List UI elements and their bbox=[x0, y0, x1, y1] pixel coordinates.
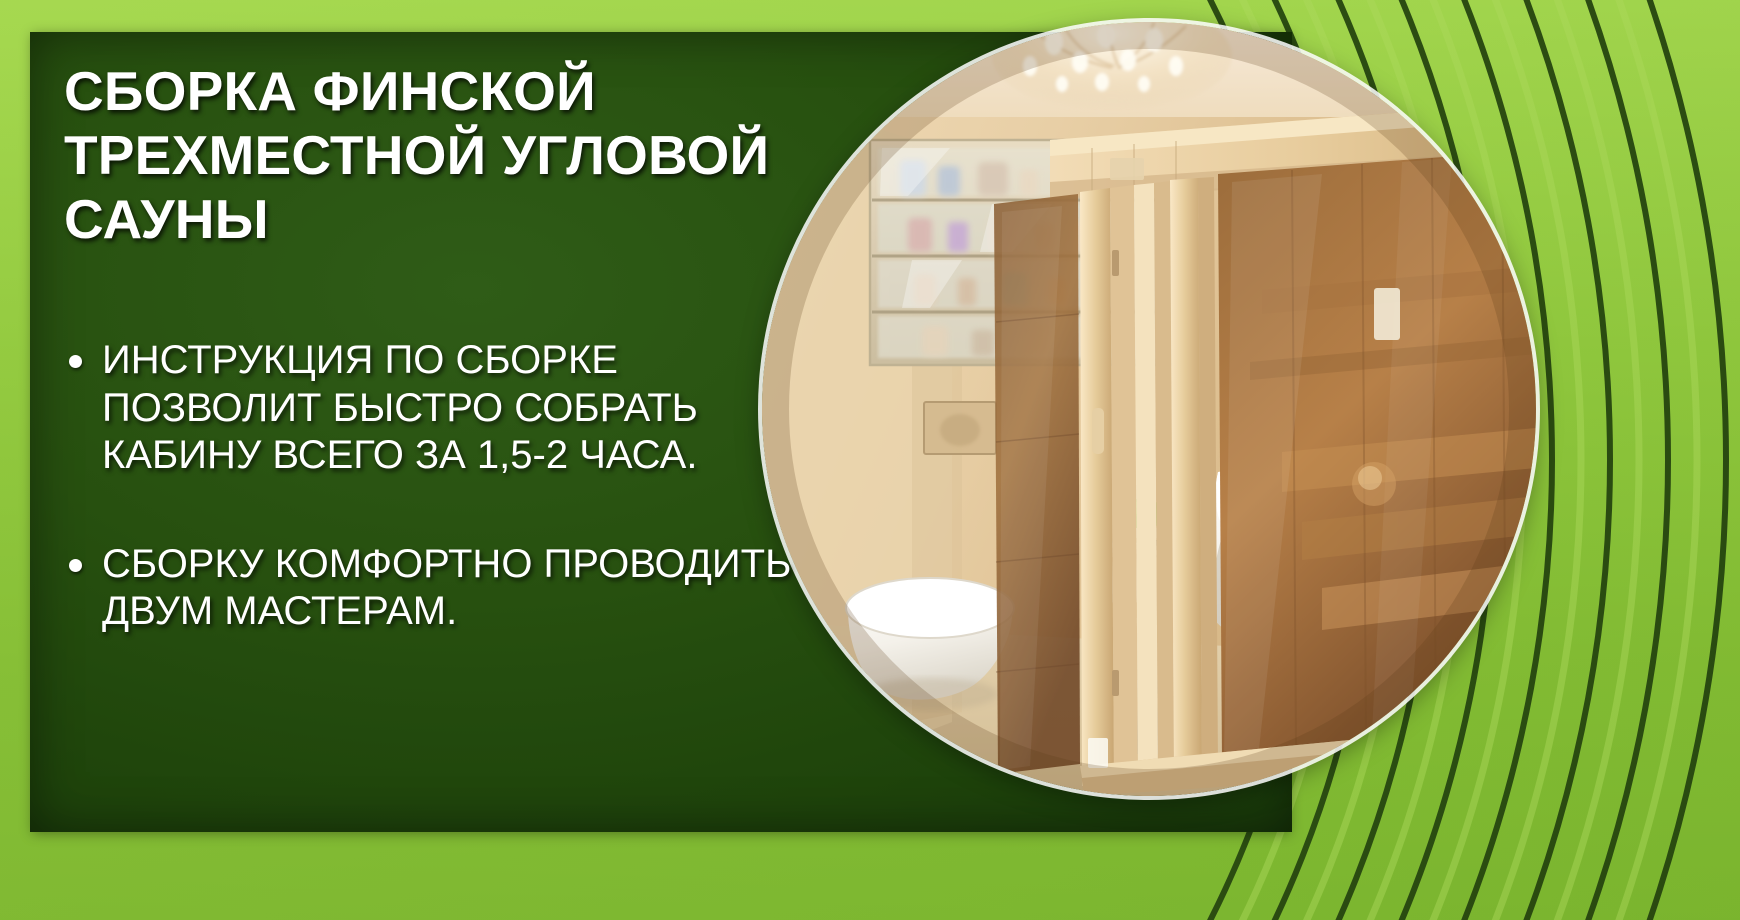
bullet-text: СБОРКУ КОМФОРТНО ПРОВОДИТЬ ДВУМ МАСТЕРАМ… bbox=[102, 542, 791, 633]
bullet-dot-icon bbox=[69, 559, 82, 572]
sauna-photo bbox=[762, 22, 1536, 796]
list-item: ИНСТРУКЦИЯ ПО СБОРКЕ ПОЗВОЛИТ БЫСТРО СОБ… bbox=[64, 337, 802, 479]
sauna-photo-circle bbox=[762, 22, 1536, 796]
bullet-list: ИНСТРУКЦИЯ ПО СБОРКЕ ПОЗВОЛИТ БЫСТРО СОБ… bbox=[64, 337, 804, 635]
bullet-dot-icon bbox=[69, 355, 82, 368]
page-title: СБОРКА ФИНСКОЙ ТРЕХМЕСТНОЙ УГЛОВОЙ САУНЫ bbox=[64, 60, 784, 251]
list-item: СБОРКУ КОМФОРТНО ПРОВОДИТЬ ДВУМ МАСТЕРАМ… bbox=[64, 541, 802, 635]
bullet-text: ИНСТРУКЦИЯ ПО СБОРКЕ ПОЗВОЛИТ БЫСТРО СОБ… bbox=[102, 338, 698, 476]
promo-slide: СБОРКА ФИНСКОЙ ТРЕХМЕСТНОЙ УГЛОВОЙ САУНЫ… bbox=[0, 0, 1740, 920]
text-content: СБОРКА ФИНСКОЙ ТРЕХМЕСТНОЙ УГЛОВОЙ САУНЫ… bbox=[64, 60, 804, 635]
